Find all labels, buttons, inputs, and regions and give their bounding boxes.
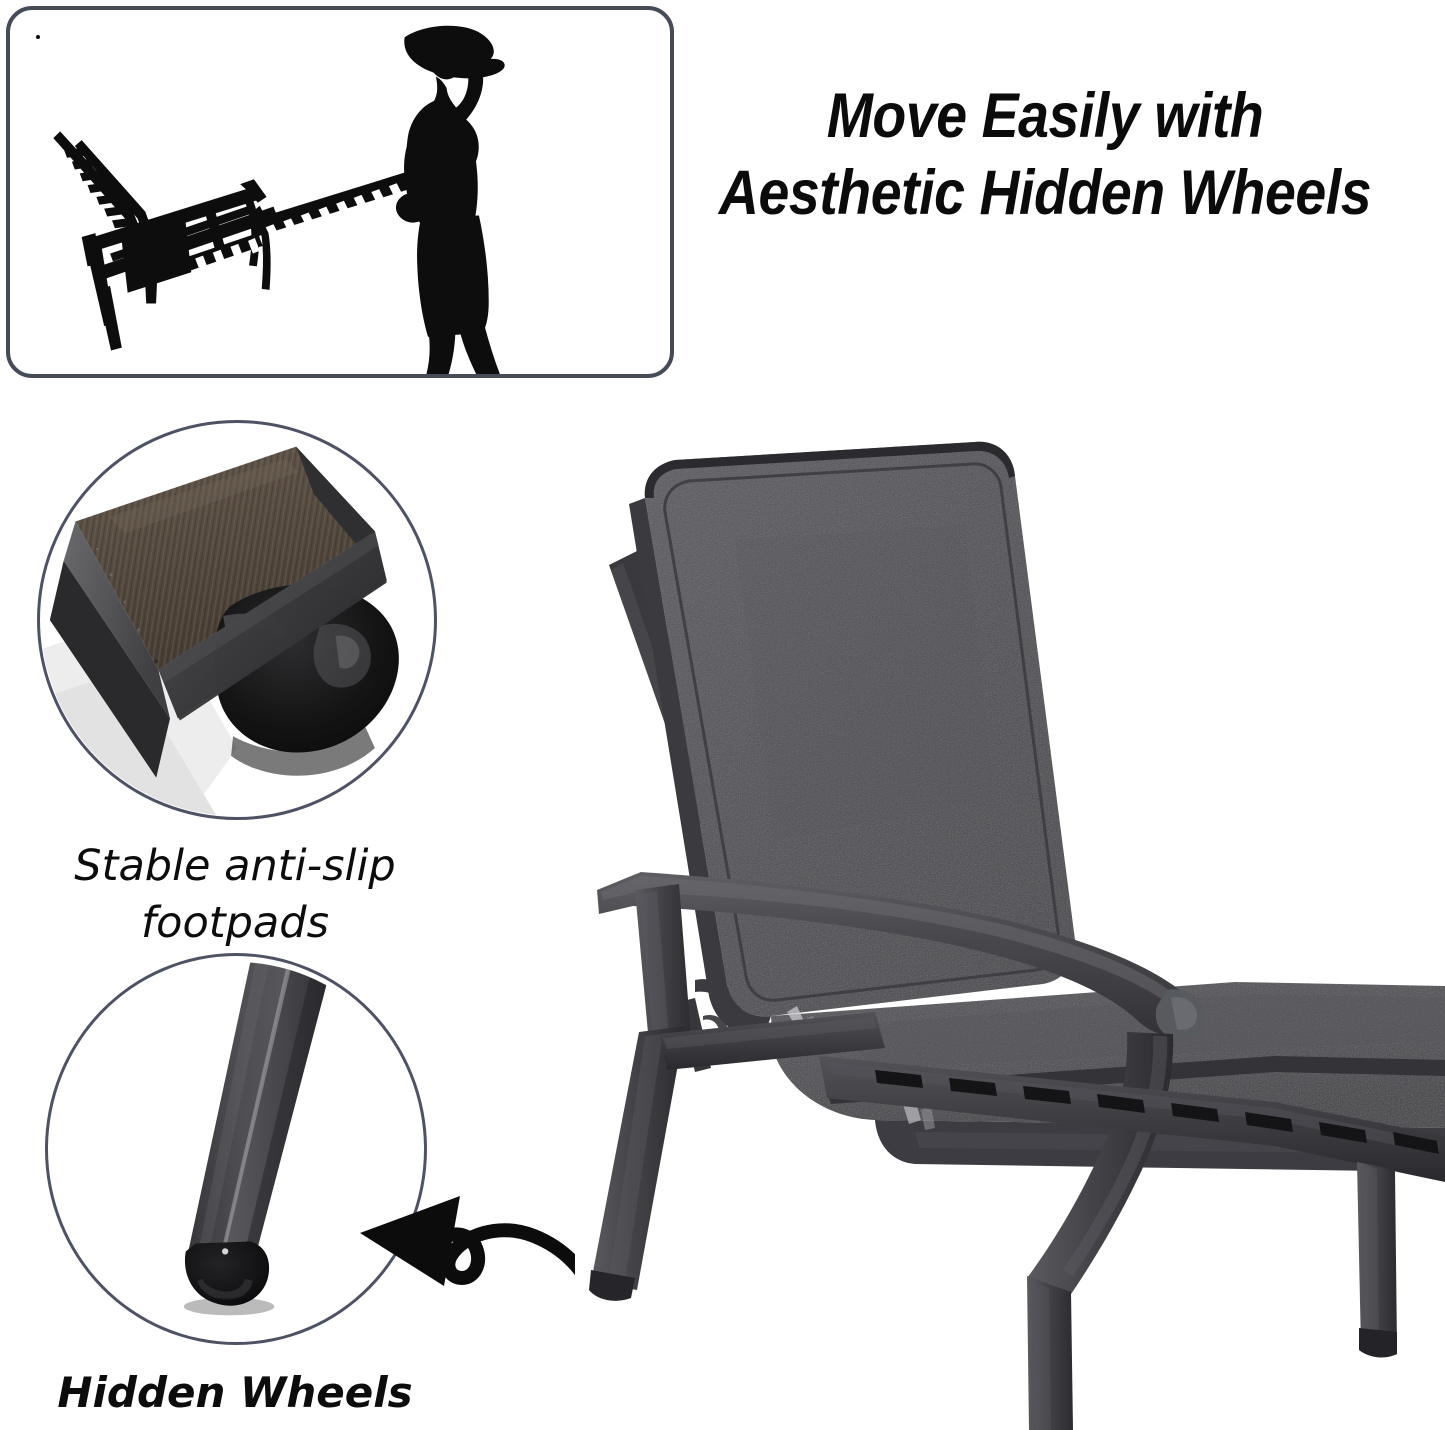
product-photo-chaise-lounge bbox=[575, 420, 1445, 1430]
woman-pulling-chair-silhouette bbox=[10, 10, 670, 374]
page-title: Move Easily with Aesthetic Hidden Wheels bbox=[697, 78, 1392, 232]
chaise-lounge-illustration bbox=[575, 420, 1445, 1430]
feature-inset-footpads bbox=[37, 420, 437, 820]
caption-hidden-wheels: Hidden Wheels bbox=[10, 1368, 460, 1418]
move-easily-illustration-panel bbox=[6, 6, 674, 378]
caption-footpads: Stable anti-slip footpads bbox=[20, 838, 450, 952]
footpad-closeup-photo bbox=[40, 423, 434, 817]
